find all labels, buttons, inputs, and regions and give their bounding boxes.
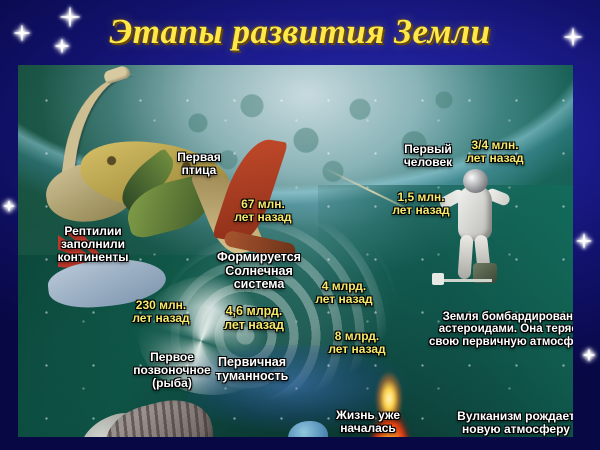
satellite-boom	[438, 279, 492, 282]
caption-solar-system-forming: Формируется Солнечная система	[209, 251, 309, 292]
caption-age-4-billion: 4 млрд. лет назад	[308, 280, 380, 306]
caption-life-already-started: Жизнь уже началась	[328, 409, 408, 435]
presentation-slide: Этапы развития Земли	[0, 0, 600, 450]
caption-age-230-million: 230 млн. лет назад	[118, 299, 204, 325]
earth-evolution-illustration: Рептилии заполнили континенты Первая пти…	[18, 65, 573, 437]
caption-reptiles-filled-continents: Рептилии заполнили континенты	[34, 225, 152, 264]
caption-age-3-4-million: 3/4 млн. лет назад	[456, 139, 534, 165]
caption-first-human: Первый человек	[396, 143, 460, 169]
sparkle-star-icon	[3, 200, 14, 211]
sparkle-star-icon	[583, 349, 595, 361]
caption-age-8-billion: 8 млрд. лет назад	[321, 330, 393, 356]
astronaut-helmet	[463, 169, 488, 193]
astronaut-body	[458, 185, 492, 241]
caption-age-4-6-billion: 4,6 млрд. лет назад	[214, 305, 294, 332]
caption-asteroid-bombardment: Земля бомбардирована астероидами. Она те…	[423, 311, 573, 348]
satellite-module	[432, 273, 444, 285]
caption-first-bird: Первая птица	[156, 151, 242, 177]
page-title: Этапы развития Земли	[0, 12, 600, 52]
sparkle-star-icon	[576, 233, 591, 248]
caption-volcanism-new-atmosphere: Вулканизм рождает новую атмосферу	[436, 410, 573, 436]
caption-age-1-5-million: 1,5 млн. лет назад	[384, 191, 458, 217]
caption-primary-nebula: Первичная туманность	[200, 356, 304, 383]
caption-age-67-million: 67 млн. лет назад	[224, 198, 302, 224]
